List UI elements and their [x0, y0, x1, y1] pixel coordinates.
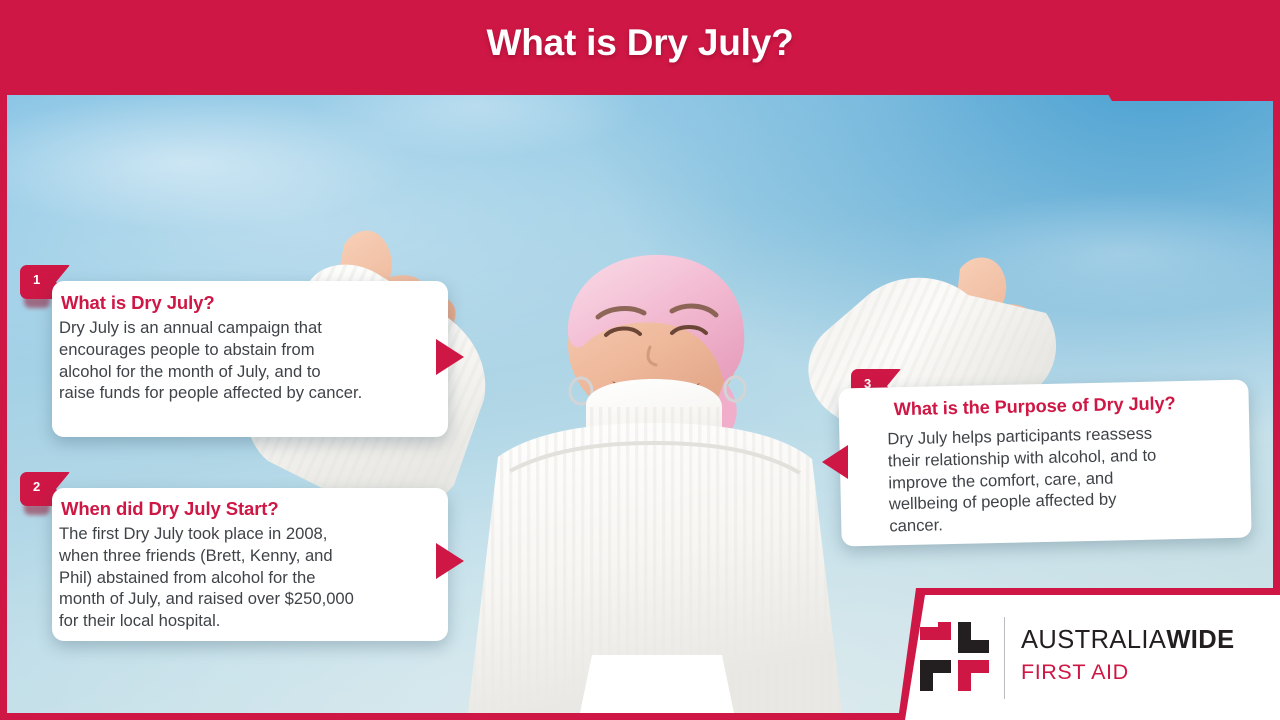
logo-wordmark: AUSTRALIAWIDE FIRST AID: [1021, 625, 1235, 685]
fact-card-2[interactable]: When did Dry July Start? The first Dry J…: [52, 488, 448, 641]
card-pointer-3-icon: [822, 445, 848, 479]
infographic-poster: What is Dry July? 1 What is Dry July? Dr…: [0, 0, 1280, 720]
fact-card-1[interactable]: What is Dry July? Dry July is an annual …: [52, 281, 448, 437]
card-badge-number-2: 2: [33, 479, 40, 494]
four-quadrant-cross-icon: [920, 622, 989, 691]
fact-card-1-heading: What is Dry July?: [61, 292, 215, 314]
card-badge-number-1: 1: [33, 272, 40, 287]
fact-card-2-heading: When did Dry July Start?: [61, 498, 279, 520]
page-title: What is Dry July?: [0, 22, 1280, 64]
fact-card-2-body: The first Dry July took place in 2008, w…: [59, 523, 444, 632]
logo-divider: [1004, 617, 1005, 699]
card-pointer-1-icon: [436, 339, 464, 375]
logo-brand-part-1: AUSTRALIA: [1021, 626, 1166, 654]
fact-card-3-heading: What is the Purpose of Dry July?: [894, 393, 1176, 420]
brand-logo[interactable]: AUSTRALIAWIDE FIRST AID: [905, 595, 1280, 720]
fact-card-3[interactable]: What is the Purpose of Dry July? Dry Jul…: [838, 380, 1251, 547]
fact-card-3-body: Dry July helps participants reassess the…: [887, 421, 1229, 537]
logo-brand-part-2: WIDE: [1166, 626, 1234, 654]
fact-card-1-body: Dry July is an annual campaign that enco…: [59, 317, 439, 404]
logo-tagline: FIRST AID: [1021, 659, 1235, 685]
card-pointer-2-icon: [436, 543, 464, 579]
